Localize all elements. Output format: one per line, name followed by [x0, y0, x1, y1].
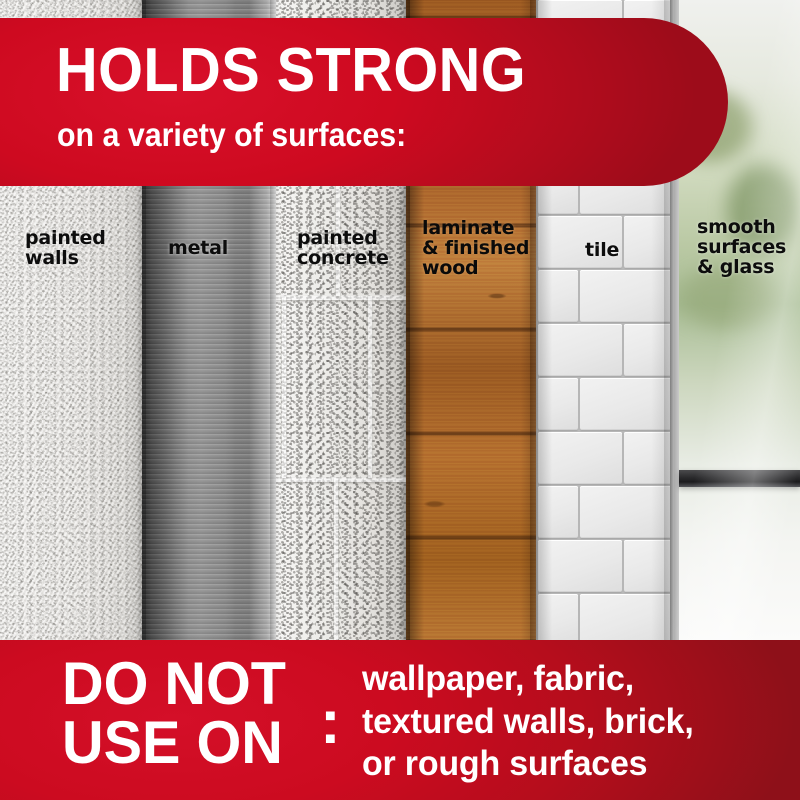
surface-label-painted-concrete: painted concrete: [297, 228, 389, 268]
do-not-use-banner: DO NOT USE ON : wallpaper, fabric, textu…: [0, 640, 800, 800]
surface-label-painted-walls: painted walls: [25, 228, 106, 268]
surface-label-tile: tile: [585, 240, 619, 260]
holds-strong-banner: HOLDS STRONG on a variety of surfaces:: [0, 18, 728, 186]
warning-heading: DO NOT USE ON: [62, 654, 286, 773]
warning-items: wallpaper, fabric, textured walls, brick…: [362, 658, 694, 786]
warning-colon: :: [320, 692, 341, 754]
surface-label-metal: metal: [168, 238, 228, 258]
banner-subtitle: on a variety of surfaces:: [57, 118, 406, 151]
surface-label-smooth-glass: smooth surfaces & glass: [697, 217, 786, 277]
banner-title: HOLDS STRONG: [56, 40, 526, 102]
surface-label-laminate-wood: laminate & finished wood: [422, 218, 529, 278]
infographic-root: HOLDS STRONG on a variety of surfaces: p…: [0, 0, 800, 800]
